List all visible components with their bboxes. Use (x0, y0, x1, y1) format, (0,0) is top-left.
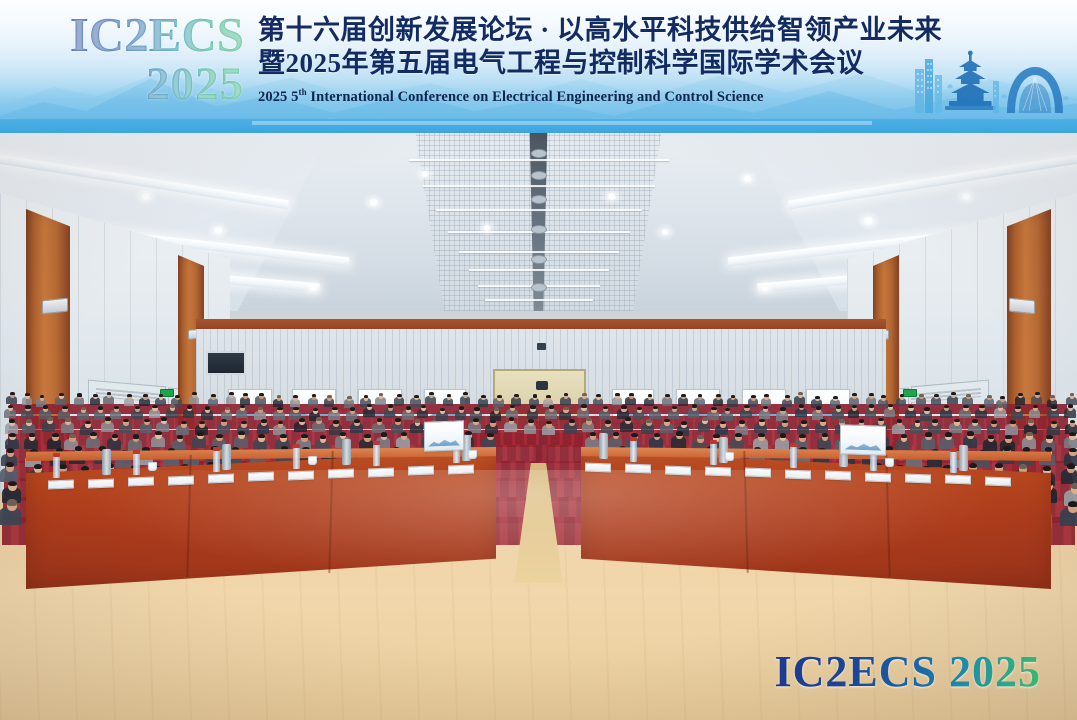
name-placard (168, 475, 194, 485)
audience-person-hair (1033, 405, 1038, 408)
downlight (482, 225, 492, 231)
audience-person-hair (340, 432, 347, 436)
audience-person-hair (530, 405, 535, 408)
audience-person-hair (133, 434, 140, 438)
audience-person-hair (277, 407, 282, 410)
audience-person-hair (780, 433, 787, 437)
audience-person-hair (34, 464, 42, 469)
audience-person-hair (327, 395, 332, 398)
audience-person-hair (112, 434, 119, 438)
audience-person-hair (758, 433, 765, 437)
header-banner: IC2ECS 2025 第十六届创新发展论坛 · 以高水平科技供给智领产业未来 … (0, 0, 1077, 133)
name-placard (945, 475, 971, 485)
audience-person-hair (901, 434, 908, 438)
title-chinese-line-1: 第十六届创新发展论坛 · 以高水平科技供给智领产业未来 (258, 14, 988, 47)
audience-person-hair (648, 394, 653, 397)
audience-person-hair (924, 407, 929, 410)
audience-person-hair (350, 407, 355, 410)
audience-person-hair (299, 418, 305, 422)
audience-person-hair (625, 417, 631, 421)
audience-person-hair (447, 394, 452, 397)
logo-line-1: IC2ECS (44, 10, 244, 59)
downlight (660, 229, 670, 235)
name-placard (705, 467, 731, 477)
audience-person-hair (836, 405, 841, 408)
audience-person-hair (1069, 432, 1076, 436)
audience-person-hair (764, 394, 769, 397)
audience-person-hair (43, 405, 48, 408)
audience-person-hair (967, 431, 974, 435)
audience-person-hair (155, 431, 162, 435)
audience-person-hair (637, 407, 642, 410)
audience-person-hair (725, 408, 730, 411)
name-placard (585, 463, 611, 473)
audience-person-hair (1068, 501, 1077, 507)
audience-person-hair (744, 405, 749, 408)
ceiling-spine-disc (531, 283, 547, 292)
audience-person-hair (869, 393, 874, 396)
audience-person-hair (52, 433, 59, 437)
downlight (308, 285, 318, 291)
audience-person-hair (605, 420, 611, 424)
audience-person-hair (229, 392, 234, 395)
ceiling-rib (423, 185, 655, 187)
name-placard (248, 472, 274, 482)
audience-person-hair (582, 393, 587, 396)
audience-person-hair (187, 405, 192, 408)
audience-person-hair (739, 420, 745, 424)
name-placard (785, 469, 811, 479)
audience-person-hair (395, 418, 401, 422)
ceiling-rib (469, 269, 609, 271)
audience-person-hair (1023, 447, 1030, 452)
audience-person-hair (563, 407, 568, 410)
audience-person-hair (25, 405, 30, 408)
bottle-cap (133, 450, 140, 454)
water-bottle (710, 443, 717, 465)
name-placard (625, 464, 651, 474)
audience-person-hair (751, 395, 756, 398)
water-bottle (213, 450, 220, 472)
audience-person-hair (785, 395, 790, 398)
ceiling-rib (409, 159, 669, 161)
audience-person-hair (991, 420, 997, 424)
name-placard (905, 473, 931, 483)
audience-person-hair (333, 420, 339, 424)
audience-person-hair (494, 407, 499, 410)
thermos-flask (102, 448, 111, 474)
audience-person-hair (364, 434, 371, 438)
water-bottle (133, 453, 140, 475)
audience-person-hair (596, 394, 601, 397)
tea-cup (725, 452, 734, 461)
downlight (420, 171, 430, 177)
audience-person-hair (7, 499, 17, 505)
audience-person-hair (621, 405, 626, 408)
water-bottle (630, 440, 637, 462)
water-bottle (53, 456, 60, 478)
audience-person-hair (631, 433, 638, 437)
audience-person-hair (698, 394, 703, 397)
audience-person-hair (7, 448, 14, 453)
audience-person-hair (590, 432, 597, 436)
audience-person-hair (528, 419, 534, 423)
audience-person-hair (199, 421, 205, 425)
name-placard (825, 471, 851, 481)
audience-person-hair (815, 396, 820, 399)
downlight (212, 227, 224, 234)
audience-person-hair (839, 419, 845, 423)
audience-person-hair (277, 395, 282, 398)
name-placard (985, 476, 1011, 486)
audience-person-hair (801, 420, 807, 424)
audience-person-hair (945, 432, 952, 436)
audience-person-hair (497, 395, 502, 398)
audience-person-hair (1028, 419, 1034, 423)
logo-line-2: 2025 (44, 61, 244, 108)
audience-person-hair (81, 466, 89, 471)
audience-person-hair (85, 421, 91, 425)
audience-person-hair (241, 421, 247, 425)
audience-person-hair (9, 419, 15, 423)
audience-person-hair (681, 421, 687, 425)
bottle-cap (630, 437, 637, 441)
audience-person-hair (720, 421, 726, 425)
title-english-ordinal: th (298, 87, 306, 97)
audience-person-hair (69, 434, 76, 438)
table-poster-card (840, 424, 886, 456)
audience-person-hair (259, 393, 264, 396)
audience-person-hair (966, 394, 971, 397)
audience-person-hair (8, 481, 17, 487)
audience-person-hair (414, 395, 419, 398)
audience-person-hair (40, 395, 45, 398)
audience-person-hair (401, 432, 408, 436)
audience-person-hair (615, 393, 620, 396)
bottle-cap (373, 441, 380, 445)
name-placard (408, 466, 434, 476)
audience-person-hair (93, 394, 98, 397)
audience-person-hair (1015, 406, 1020, 409)
name-placard (128, 477, 154, 487)
back-wall-display (206, 351, 246, 375)
audience-person-hair (81, 407, 86, 410)
audience-person-hair (759, 419, 765, 423)
ceiling-rib (485, 299, 593, 301)
audience-person-hair (972, 419, 978, 423)
audience-person-hair (205, 406, 210, 409)
name-placard (368, 467, 394, 477)
audience-person-hair (798, 392, 803, 395)
bottle-cap (710, 440, 717, 444)
name-placard (208, 474, 234, 484)
ceiling-rib (436, 209, 642, 211)
audience-person-hair (347, 396, 352, 399)
audience-person-hair (954, 419, 960, 423)
name-placard (48, 480, 74, 490)
audience-person-hair (569, 419, 575, 423)
watermark-text: IC2ECS 2025 (775, 650, 1042, 694)
audience-person-hair (388, 404, 393, 407)
audience-person-hair (77, 393, 82, 396)
audience-person-hair (988, 435, 995, 439)
audience-person-hair (603, 406, 608, 409)
audience-person-hair (676, 431, 683, 435)
audience-person-hair (474, 407, 479, 410)
audience-person-hair (216, 434, 223, 438)
audience-person-hair (152, 405, 157, 408)
thermos-flask (599, 433, 608, 459)
audience-person-hair (692, 404, 697, 407)
audience-person-hair (1043, 466, 1051, 471)
water-bottle (950, 451, 957, 473)
audience-person-hair (1046, 435, 1053, 439)
tea-cup (885, 457, 894, 466)
title-english-prefix: 2025 5 (258, 89, 298, 105)
tea-cup (468, 450, 477, 459)
audience-person-hair (1067, 463, 1075, 468)
audience-person-hair (316, 417, 322, 421)
audience-person-hair (763, 406, 768, 409)
downlight (368, 199, 379, 206)
audience-person-hair (1005, 435, 1012, 439)
downlight (862, 217, 875, 225)
tea-cup (308, 456, 317, 465)
bottle-cap (950, 448, 957, 452)
audience-person-hair (354, 419, 360, 423)
audience-person-hair (170, 404, 175, 407)
name-placard (745, 468, 771, 478)
bottle-cap (53, 453, 60, 457)
audience-person-hair (377, 418, 383, 422)
title-chinese-line-2: 暨2025年第五届电气工程与控制科学国际学术会议 (258, 47, 988, 80)
audience-person-hair (406, 406, 411, 409)
audience-person-hair (47, 417, 53, 421)
ceiling-spine-disc (531, 255, 547, 264)
ceiling-spine-disc (531, 195, 547, 204)
audience-person-hair (969, 463, 977, 468)
audience-person-hair (549, 405, 554, 408)
audience-person-hair (816, 406, 821, 409)
audience-person-hair (397, 394, 402, 397)
audience-person-hair (799, 434, 806, 438)
audience-person-hair (613, 432, 620, 436)
audience-person-hair (225, 407, 230, 410)
tea-cup (148, 462, 157, 471)
audience-person-hair (301, 434, 308, 438)
thermos-flask (222, 444, 231, 470)
audience-person-hair (869, 404, 874, 407)
audience-person-hair (364, 395, 369, 398)
audience-person-hair (293, 407, 298, 410)
audience-person-hair (181, 421, 187, 425)
audience-person-hair (665, 394, 670, 397)
audience-person-hair (62, 406, 67, 409)
audience-person-hair (9, 433, 16, 437)
audience-person-hair (799, 404, 804, 407)
audience-person-hair (731, 395, 736, 398)
wall-speaker-icon (1009, 298, 1035, 315)
audience-person-hair (533, 394, 538, 397)
audience-person-hair (987, 395, 992, 398)
audience-person-hair (820, 419, 826, 423)
audience-person-hair (312, 394, 317, 397)
audience-person-hair (415, 419, 421, 423)
water-bottle (790, 446, 797, 468)
name-placard (88, 478, 114, 488)
audience-person-hair (852, 393, 857, 396)
audience-person-hair (925, 432, 932, 436)
bottle-cap (293, 444, 300, 448)
water-bottle (293, 447, 300, 469)
audience-person-hair (1018, 393, 1023, 396)
audience-person-hair (1000, 396, 1005, 399)
audience-person-hair (998, 404, 1003, 407)
audience-person-hair (697, 435, 704, 439)
ceiling-rib (459, 251, 619, 253)
audience-person-hair (59, 464, 67, 469)
header-band-highlight (252, 121, 872, 125)
thermos-flask (342, 439, 351, 465)
audience-person-hair (6, 462, 14, 467)
auditorium-photo: IC2ECS 2025 (0, 133, 1077, 720)
audience-person-hair (514, 394, 519, 397)
audience-person-hair (629, 393, 634, 396)
water-bottle (373, 444, 380, 466)
audience-person-hair (995, 463, 1003, 468)
downlight (606, 193, 617, 200)
audience-person-hair (29, 433, 36, 437)
audience-person-hair (1045, 447, 1052, 452)
downlight (742, 175, 753, 182)
audience-person-hair (332, 407, 337, 410)
audience-person-hair (833, 396, 838, 399)
audience-person-hair (581, 404, 586, 407)
audience-person-hair (963, 405, 968, 408)
audience-person-hair (161, 417, 167, 421)
audience-person-hair (1035, 392, 1040, 395)
audience-person-hair (98, 406, 103, 409)
bottle-cap (790, 443, 797, 447)
audience-person-hair (258, 407, 263, 410)
audience-person-hair (711, 407, 716, 410)
conference-poster: IC2ECS 2025 第十六届创新发展论坛 · 以高水平科技供给智领产业未来 … (0, 0, 1077, 720)
audience-person-hair (175, 395, 180, 398)
audience-person-hair (177, 435, 184, 439)
audience-person-hair (487, 433, 494, 437)
audience-person-hair (26, 419, 32, 423)
audience-person-hair (1068, 404, 1073, 407)
audience-person-hair (586, 418, 592, 422)
ceiling-spine-disc (531, 149, 547, 158)
audience-person-hair (822, 433, 829, 437)
name-placard (328, 469, 354, 479)
name-placard (448, 464, 474, 474)
downlight (140, 193, 152, 200)
audience-person-hair (1050, 395, 1055, 398)
audience-person-hair (379, 393, 384, 396)
audience-person-hair (490, 420, 496, 424)
audience-person-hair (859, 419, 865, 423)
audience-person-hair (735, 433, 742, 437)
conference-logo: IC2ECS 2025 (44, 10, 244, 108)
wall-speaker-icon (42, 298, 68, 315)
ceiling-spine-disc (531, 225, 547, 234)
audience-person-hair (440, 408, 445, 411)
audience-person-hair (780, 407, 785, 410)
audience-person-hair (473, 418, 479, 422)
audience-person-hair (509, 417, 515, 421)
audience-person-hair (979, 405, 984, 408)
audience-person-hair (932, 419, 938, 423)
audience-person-hair (261, 419, 267, 423)
name-placard (665, 465, 691, 475)
audience-person-hair (320, 435, 327, 439)
audience-person-hair (75, 446, 82, 451)
name-placard (288, 470, 314, 480)
audience-person-hair (1019, 464, 1027, 469)
ceiling-projector-icon (537, 343, 546, 350)
audience-person-hair (546, 421, 552, 425)
title-english: 2025 5th International Conference on Ele… (258, 87, 988, 106)
audience-person-hair (238, 431, 245, 435)
title-block: 第十六届创新发展论坛 · 以高水平科技供给智领产业未来 暨2025年第五届电气工… (258, 14, 988, 106)
audience-person-hair (646, 419, 652, 423)
downlight (960, 193, 972, 200)
audience-person-hair (1003, 446, 1010, 451)
audience-person-hair (65, 418, 71, 422)
audience-person-hair (654, 433, 661, 437)
audience-person-hair (681, 394, 686, 397)
name-placard (865, 472, 891, 482)
title-english-rest: International Conference on Electrical E… (307, 89, 764, 105)
audience-person-hair (1069, 448, 1076, 453)
audience-person-hair (105, 417, 111, 421)
audience-person-hair (90, 432, 97, 436)
audience-person-hair (897, 419, 903, 423)
bottle-cap (213, 447, 220, 451)
ceiling-spine-disc (531, 171, 547, 180)
audience-person-hair (381, 432, 388, 436)
audience-person-hair (1051, 405, 1056, 408)
table-poster-card (424, 420, 464, 451)
audience-person-hair (919, 394, 924, 397)
audience-person-hair (280, 434, 287, 438)
downlight (760, 285, 770, 291)
thermos-flask (959, 445, 968, 471)
audience-person-hair (258, 434, 265, 438)
audience-person-hair (1010, 420, 1016, 424)
audience-person-hair (459, 406, 464, 409)
audience-person-hair (197, 431, 204, 435)
audience-person-hair (951, 392, 956, 395)
audience-person-hair (934, 394, 939, 397)
audience-person-hair (1071, 483, 1077, 489)
audience-person-hair (481, 395, 486, 398)
audience-person-hair (702, 417, 708, 421)
audience-person-hair (782, 420, 788, 424)
audience-person-hair (908, 405, 913, 408)
audience-person-hair (144, 419, 150, 423)
audience-person-hair (114, 406, 119, 409)
